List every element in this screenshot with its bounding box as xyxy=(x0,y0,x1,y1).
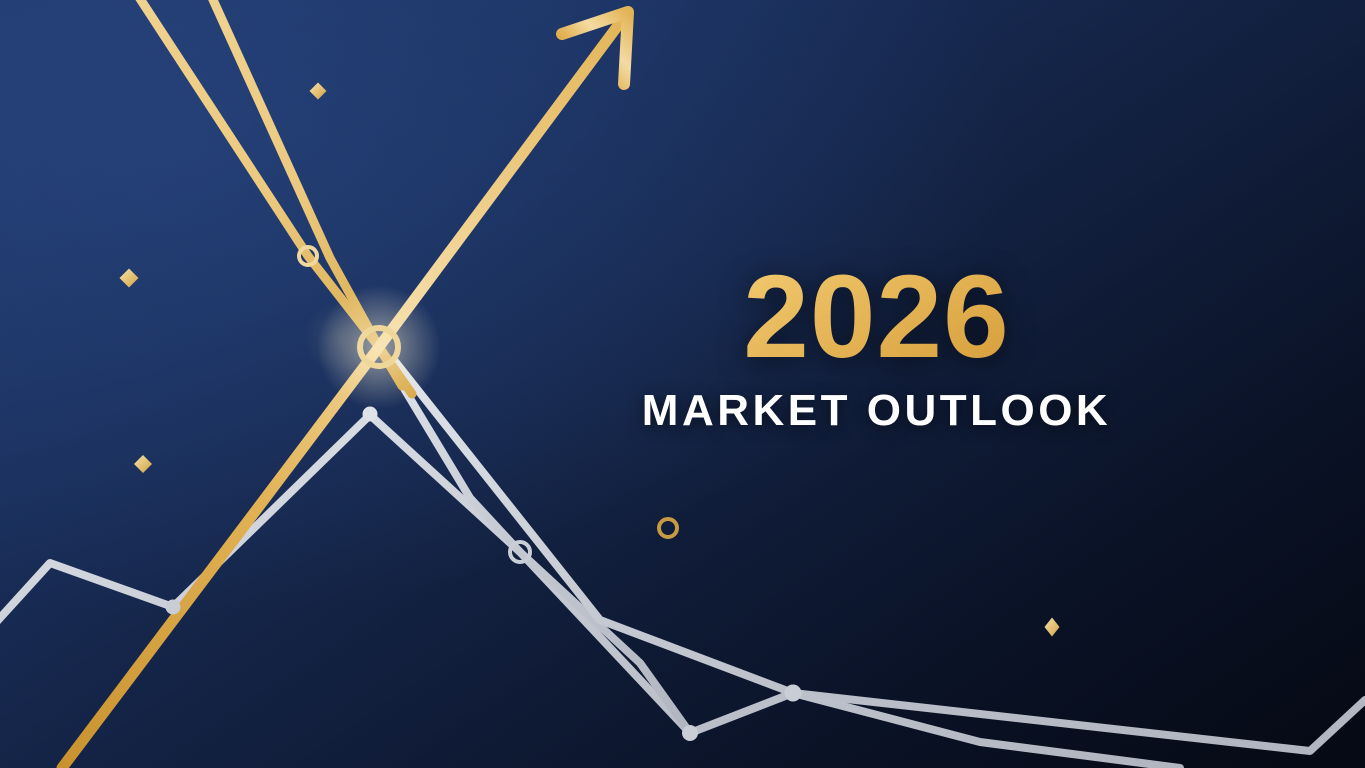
diamond-icon-3 xyxy=(134,455,152,473)
node-silver-left-icon xyxy=(166,600,181,615)
node-silver-trough-icon xyxy=(682,725,698,741)
silver-tertiary-line xyxy=(394,360,1180,768)
node-silver-right-icon xyxy=(785,685,802,702)
diamond-icon-4 xyxy=(1045,618,1060,637)
diamond-icon-1 xyxy=(310,83,327,100)
silver-trend-lines xyxy=(0,347,1365,768)
node-accent-ring-icon xyxy=(659,519,677,537)
center-highlight xyxy=(289,257,469,437)
decorative-diamonds xyxy=(120,83,1060,637)
chart-node-markers xyxy=(166,247,802,741)
chart-layer xyxy=(0,0,1365,768)
market-outlook-poster: 2026 MARKET OUTLOOK xyxy=(0,0,1365,768)
diamond-icon-2 xyxy=(120,269,139,288)
